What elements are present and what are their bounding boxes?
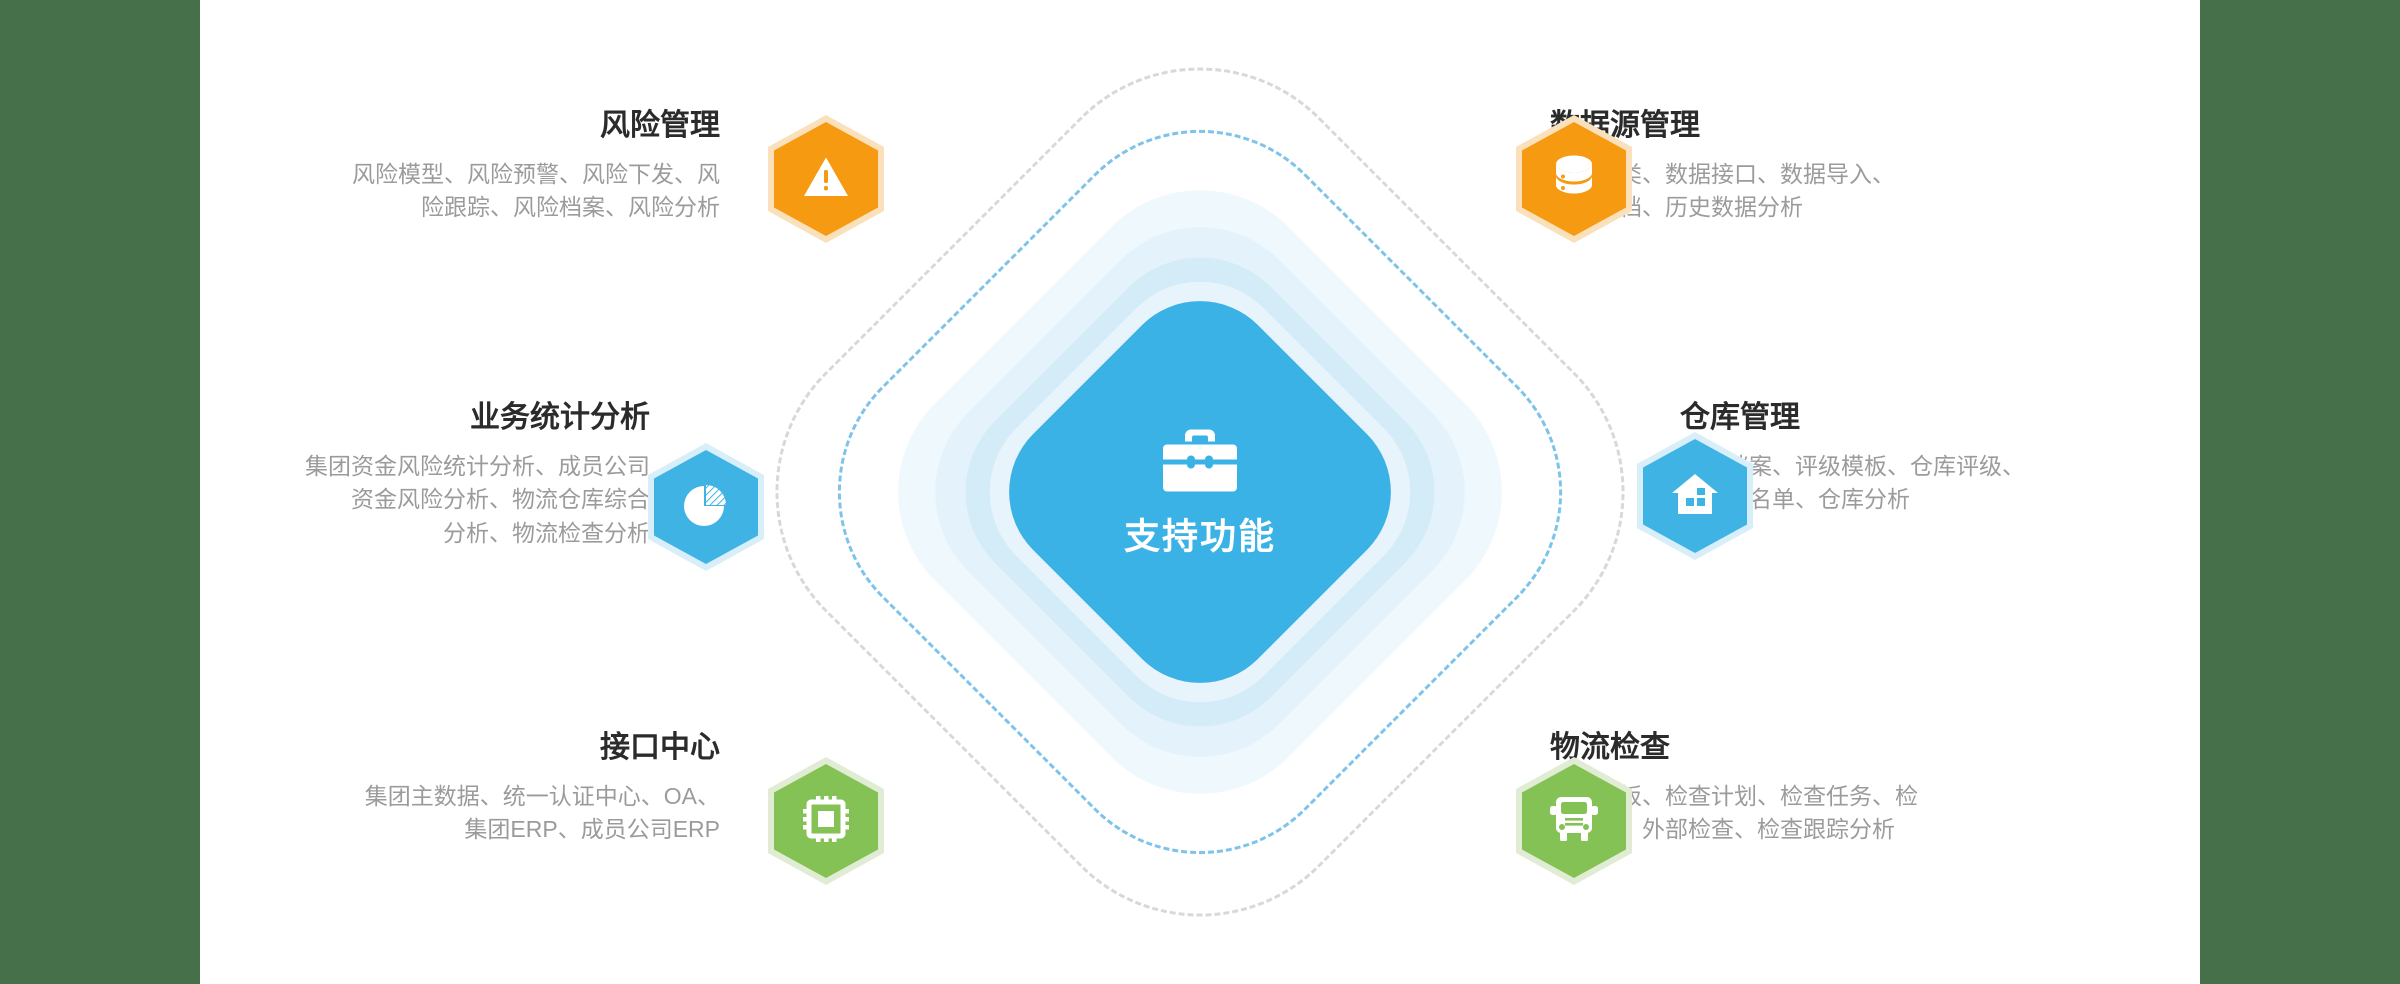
pie-chart-icon <box>683 482 729 533</box>
node-desc-line: 集团主数据、统一认证中心、OA、 <box>250 780 720 813</box>
left-green-band <box>0 0 200 984</box>
node-title-warehouse-management: 仓库管理 <box>1680 400 2150 436</box>
node-desc-line: 险跟踪、风险档案、风险分析 <box>250 191 720 224</box>
node-desc-line: 资金风险分析、物流仓库综合 <box>200 483 650 516</box>
database-icon <box>1552 154 1596 205</box>
hex-node-logistics-inspection[interactable] <box>1516 757 1632 885</box>
hex-node-business-statistics-analysis[interactable] <box>648 443 764 571</box>
hex-node-data-source-management[interactable] <box>1516 115 1632 243</box>
node-text-risk-management: 风险管理 风险模型、风险预警、风险下发、风 险跟踪、风险档案、风险分析 <box>250 108 720 225</box>
truck-icon <box>1550 796 1598 847</box>
warehouse-icon <box>1671 472 1719 521</box>
node-desc-line: 集团资金风险统计分析、成员公司 <box>200 450 650 483</box>
node-desc-line: 集团ERP、成员公司ERP <box>250 813 720 846</box>
node-desc-line: 风险模型、风险预警、风险下发、风 <box>250 158 720 191</box>
chip-icon <box>803 796 849 847</box>
node-text-interface-center: 接口中心 集团主数据、统一认证中心、OA、 集团ERP、成员公司ERP <box>250 730 720 847</box>
hex-node-risk-management[interactable] <box>768 115 884 243</box>
right-green-band <box>2200 0 2400 984</box>
warning-triangle-icon <box>803 156 849 203</box>
hex-node-warehouse-management[interactable] <box>1637 432 1753 560</box>
node-title-interface-center: 接口中心 <box>250 730 720 766</box>
hex-node-interface-center[interactable] <box>768 757 884 885</box>
node-title-business-statistics-analysis: 业务统计分析 <box>200 400 650 436</box>
infographic-stage: 支持功能 风险管理 风险模型、风险预警、风险下发、风 险跟踪、风险档案、风险分析… <box>200 0 2200 984</box>
node-title-risk-management: 风险管理 <box>250 108 720 144</box>
node-text-business-statistics-analysis: 业务统计分析 集团资金风险统计分析、成员公司 资金风险分析、物流仓库综合 分析、… <box>200 400 650 550</box>
node-desc-line: 分析、物流检查分析 <box>200 517 650 550</box>
